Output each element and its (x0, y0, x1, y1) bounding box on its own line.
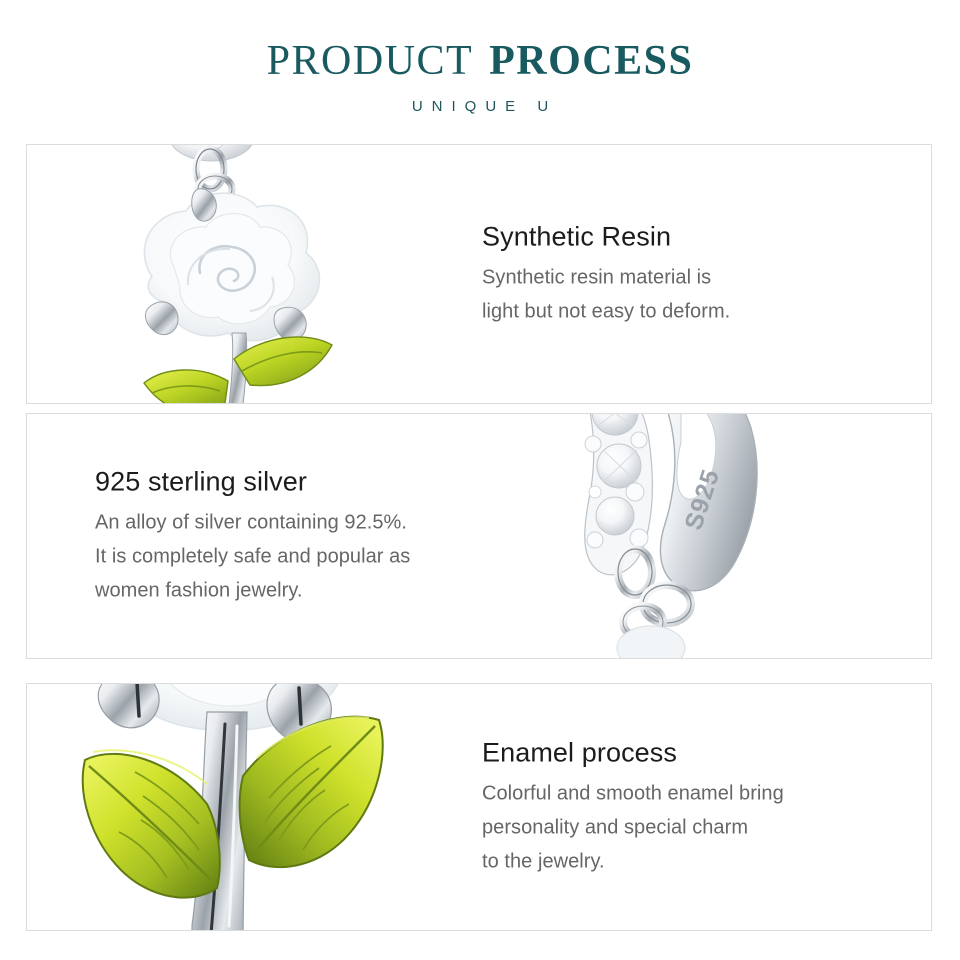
page-title: PRODUCTPROCESS (0, 38, 960, 84)
feature-description-line: personality and special charm (482, 811, 902, 845)
feature-description-line: It is completely safe and popular as (95, 540, 515, 574)
feature-description: Colorful and smooth enamel bring persona… (482, 777, 902, 879)
product-process-page: PRODUCTPROCESS UNIQUE U (0, 0, 960, 960)
feature-title: Synthetic Resin (482, 220, 902, 254)
page-header: PRODUCTPROCESS UNIQUE U (0, 0, 960, 115)
s925-silver-clasp-closeup-photo: S925 (467, 413, 827, 659)
page-subtitle: UNIQUE U (0, 98, 960, 115)
feature-description-line: women fashion jewelry. (95, 574, 515, 608)
feature-description-line: light but not easy to deform. (482, 295, 902, 329)
feature-text-synthetic-resin: Synthetic Resin Synthetic resin material… (482, 220, 902, 329)
svg-text:S925: S925 (679, 466, 725, 534)
feature-panel-enamel-process: Enamel process Colorful and smooth ename… (26, 683, 932, 931)
feature-description: An alloy of silver containing 92.5%. It … (95, 506, 515, 608)
feature-panel-sterling-silver: S925 (26, 413, 932, 659)
page-title-word-process: PROCESS (489, 38, 693, 84)
feature-text-sterling-silver: 925 sterling silver An alloy of silver c… (95, 465, 515, 608)
feature-text-enamel-process: Enamel process Colorful and smooth ename… (482, 736, 902, 879)
feature-title: Enamel process (482, 736, 902, 770)
white-resin-rose-pendant-photo (82, 144, 422, 404)
feature-description-line: to the jewelry. (482, 845, 902, 879)
page-title-word-product: PRODUCT (267, 38, 474, 84)
feature-panel-synthetic-resin: Synthetic Resin Synthetic resin material… (26, 144, 932, 404)
feature-description-line: Colorful and smooth enamel bring (482, 777, 902, 811)
feature-description: Synthetic resin material is light but no… (482, 261, 902, 329)
feature-description-line: An alloy of silver containing 92.5%. (95, 506, 515, 540)
feature-title: 925 sterling silver (95, 465, 515, 499)
feature-description-line: Synthetic resin material is (482, 261, 902, 295)
green-enamel-leaves-closeup-photo (67, 683, 467, 931)
